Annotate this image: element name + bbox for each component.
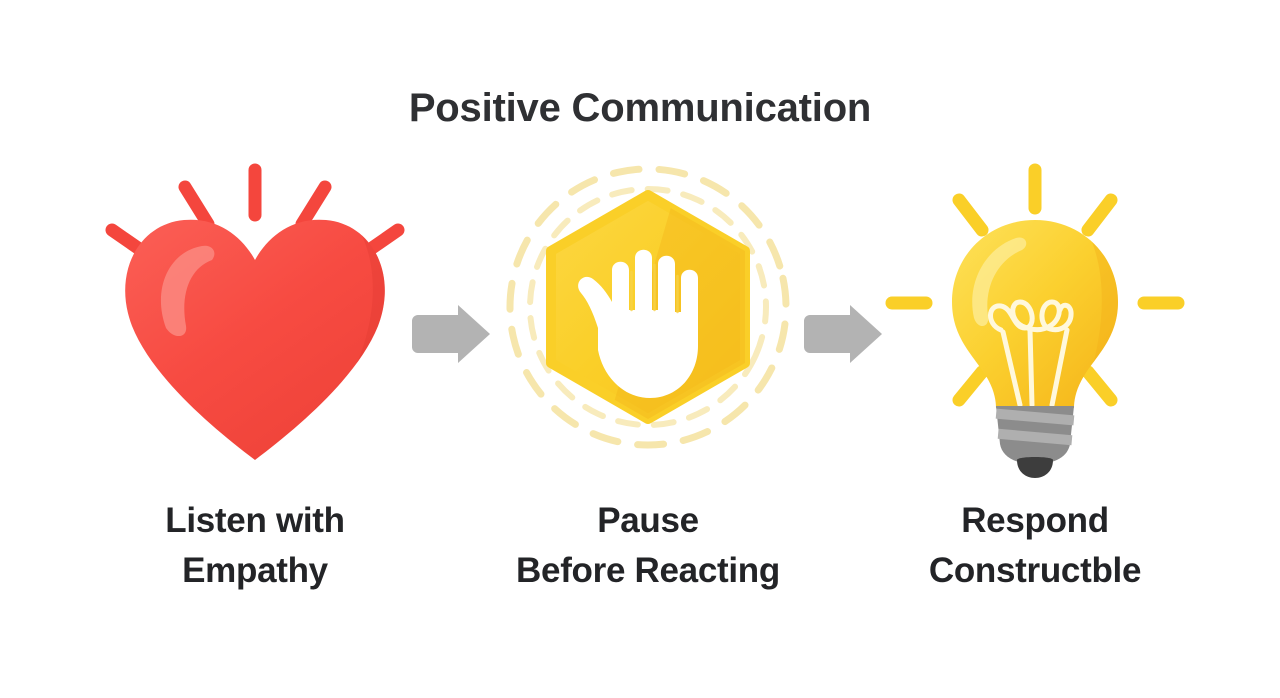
bulb-ray-top-right bbox=[1088, 200, 1111, 230]
step-2-pause-before-reacting bbox=[483, 160, 813, 480]
lightbulb-icon-wrapper bbox=[870, 160, 1200, 480]
caption-step-1-line-1: Listen with bbox=[75, 496, 435, 546]
caption-step-2: Pause Before Reacting bbox=[468, 496, 828, 595]
arrow-right-icon bbox=[408, 303, 494, 365]
connector-arrow-1 bbox=[408, 303, 494, 365]
bulb-ray-bottom-left bbox=[959, 372, 982, 400]
hexagon-stop-hand-icon bbox=[483, 160, 813, 480]
hexagon-hand-icon-wrapper bbox=[483, 160, 813, 480]
caption-step-1-line-2: Empathy bbox=[75, 546, 435, 596]
bulb-ray-top-left bbox=[959, 200, 982, 230]
lightbulb-icon bbox=[870, 160, 1200, 480]
heart-ray-left-inner bbox=[185, 187, 208, 224]
caption-step-2-line-1: Pause bbox=[468, 496, 828, 546]
caption-step-1: Listen with Empathy bbox=[75, 496, 435, 595]
heart-ray-right-inner bbox=[302, 187, 325, 224]
infographic-canvas: Positive Communication bbox=[0, 0, 1280, 698]
page-title: Positive Communication bbox=[0, 86, 1280, 130]
heart-icon-wrapper bbox=[90, 160, 420, 480]
arrow-right-shape bbox=[412, 305, 490, 363]
step-1-listen-with-empathy bbox=[90, 160, 420, 480]
caption-step-3-line-1: Respond bbox=[855, 496, 1215, 546]
caption-step-3: Respond Constructble bbox=[855, 496, 1215, 595]
base-tip bbox=[1017, 457, 1053, 478]
caption-step-3-line-2: Constructble bbox=[855, 546, 1215, 596]
bulb-ray-bottom-right bbox=[1088, 372, 1111, 400]
bulb-screw-base bbox=[996, 406, 1075, 478]
heart-shape bbox=[125, 220, 385, 460]
caption-step-2-line-2: Before Reacting bbox=[468, 546, 828, 596]
heart-with-rays-icon bbox=[90, 160, 420, 480]
step-3-respond-constructble bbox=[870, 160, 1200, 480]
